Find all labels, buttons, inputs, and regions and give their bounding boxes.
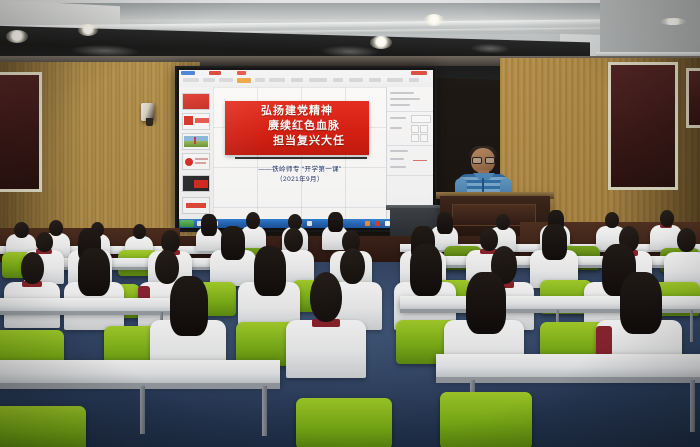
wall-speaker-mount — [146, 118, 153, 126]
start-button[interactable] — [180, 220, 194, 227]
task-pane-label — [390, 104, 410, 106]
chair[interactable] — [440, 392, 532, 447]
table-row — [0, 360, 280, 384]
student-uniform-trim — [596, 326, 612, 356]
ceiling-downlight — [78, 24, 98, 36]
task-pane-option[interactable] — [411, 125, 419, 133]
ribbon-control[interactable] — [219, 78, 233, 82]
glasses-lens — [485, 157, 495, 164]
tray-icon[interactable] — [365, 221, 370, 226]
ribbon-tab[interactable] — [237, 71, 246, 75]
ribbon-control[interactable] — [203, 78, 215, 82]
task-pane-option[interactable] — [420, 125, 428, 133]
task-pane-label — [390, 150, 408, 152]
task-pane-option[interactable] — [411, 134, 419, 142]
student-head — [310, 272, 342, 322]
task-pane-divider — [387, 145, 433, 146]
slide-subtitle: ——铁岭师专 “开学第一课” — [213, 163, 387, 173]
ribbon-control[interactable] — [349, 78, 363, 82]
task-pane-label — [390, 166, 406, 168]
table-leg — [140, 386, 145, 434]
table-row — [436, 354, 700, 378]
chair[interactable] — [0, 406, 86, 447]
task-pane-divider — [387, 111, 433, 112]
slide-title-line-2: 赓续红色血脉 — [225, 120, 369, 133]
slide-canvas[interactable]: 弘扬建党精神 赓续红色血脉 担当复兴大任 ——铁岭师专 “开学第一课” （202… — [213, 87, 387, 219]
glasses-icon — [472, 157, 494, 162]
slide-thumbnail-pane[interactable] — [179, 87, 214, 219]
classroom-scene: 弘扬建党精神 赓续红色血脉 担当复兴大任 ——铁岭师专 “开学第一课” （202… — [0, 0, 700, 447]
table-leg — [690, 380, 695, 432]
right-task-pane[interactable] — [386, 87, 433, 219]
ceiling-downlight — [6, 30, 28, 43]
ribbon-highlight-control[interactable] — [237, 78, 251, 83]
task-pane-label — [390, 127, 402, 129]
slide-title-line-3: 担当复兴大任 — [225, 135, 369, 148]
student-body — [286, 320, 366, 378]
ceiling-soffit-right — [600, 0, 700, 60]
student-hair — [254, 246, 286, 296]
ceiling-downlight — [660, 18, 686, 25]
student — [286, 272, 366, 372]
ribbon-control[interactable] — [369, 78, 381, 82]
table-leg — [690, 310, 693, 342]
chair[interactable] — [296, 398, 392, 447]
slide-thumbnail[interactable] — [182, 175, 210, 192]
slide-thumbnail[interactable] — [182, 197, 210, 214]
table-leg — [262, 386, 267, 436]
table-edge — [436, 377, 700, 383]
task-pane-label — [390, 98, 420, 100]
student — [150, 276, 226, 372]
slide-title-block: 弘扬建党精神 赓续红色血脉 担当复兴大任 — [225, 101, 369, 155]
ribbon-control[interactable] — [409, 78, 419, 82]
slide-thumbnail[interactable] — [182, 113, 210, 130]
ribbon-control[interactable] — [291, 78, 303, 82]
presentation-ribbon[interactable] — [179, 70, 433, 88]
wall-panel-right — [608, 62, 678, 190]
student-hair — [170, 276, 208, 336]
wall-panel-far-right-inner — [689, 71, 700, 125]
student-hair — [466, 272, 506, 334]
ceiling-downlight — [370, 36, 392, 49]
student-hair — [620, 272, 662, 334]
ceiling-downlight — [424, 14, 444, 26]
student-hair — [542, 224, 567, 260]
task-pane-option[interactable] — [420, 134, 428, 142]
student-head — [660, 210, 674, 227]
task-pane-input[interactable] — [411, 115, 431, 123]
beam-glint — [470, 43, 510, 54]
ribbon-action-button[interactable] — [411, 71, 427, 75]
slide-date-line: （2021年9月） — [213, 173, 387, 183]
slide-divider-rule — [235, 157, 367, 159]
student-hair — [328, 212, 343, 232]
slide-thumbnail[interactable] — [182, 133, 210, 150]
student-hair — [78, 248, 110, 296]
ribbon-control[interactable] — [255, 78, 265, 82]
app-logo-icon — [181, 71, 195, 75]
student-head — [21, 252, 44, 284]
glasses-lens — [472, 157, 482, 164]
student-head — [677, 228, 696, 252]
ribbon-control[interactable] — [387, 78, 403, 82]
ribbon-control[interactable] — [269, 78, 285, 82]
task-pane-divider — [387, 175, 433, 176]
student-hair — [410, 244, 442, 296]
wall-panel-left — [0, 72, 42, 192]
wall-panel-right-inner — [611, 65, 675, 187]
wall-panel-far-right — [686, 68, 700, 128]
task-pane-label — [390, 92, 414, 94]
ribbon-control[interactable] — [183, 78, 199, 82]
presentation-workspace: 弘扬建党精神 赓续红色血脉 担当复兴大任 ——铁岭师专 “开学第一课” （202… — [179, 87, 433, 219]
wall-panel-left-inner — [0, 75, 39, 189]
student — [530, 224, 578, 284]
task-pane-accent — [413, 160, 427, 161]
tray-icon[interactable] — [375, 221, 380, 226]
student-head — [133, 224, 146, 239]
slide-title-line-1: 弘扬建党精神 — [225, 105, 369, 118]
task-pane-label — [390, 117, 406, 119]
task-pane-label — [390, 158, 404, 160]
ribbon-control[interactable] — [309, 78, 327, 82]
slide-thumbnail[interactable] — [182, 153, 210, 170]
student-head — [36, 232, 53, 252]
ribbon-control[interactable] — [333, 78, 343, 82]
slide-thumbnail[interactable] — [182, 93, 210, 110]
ribbon-tab-active[interactable] — [209, 71, 221, 75]
